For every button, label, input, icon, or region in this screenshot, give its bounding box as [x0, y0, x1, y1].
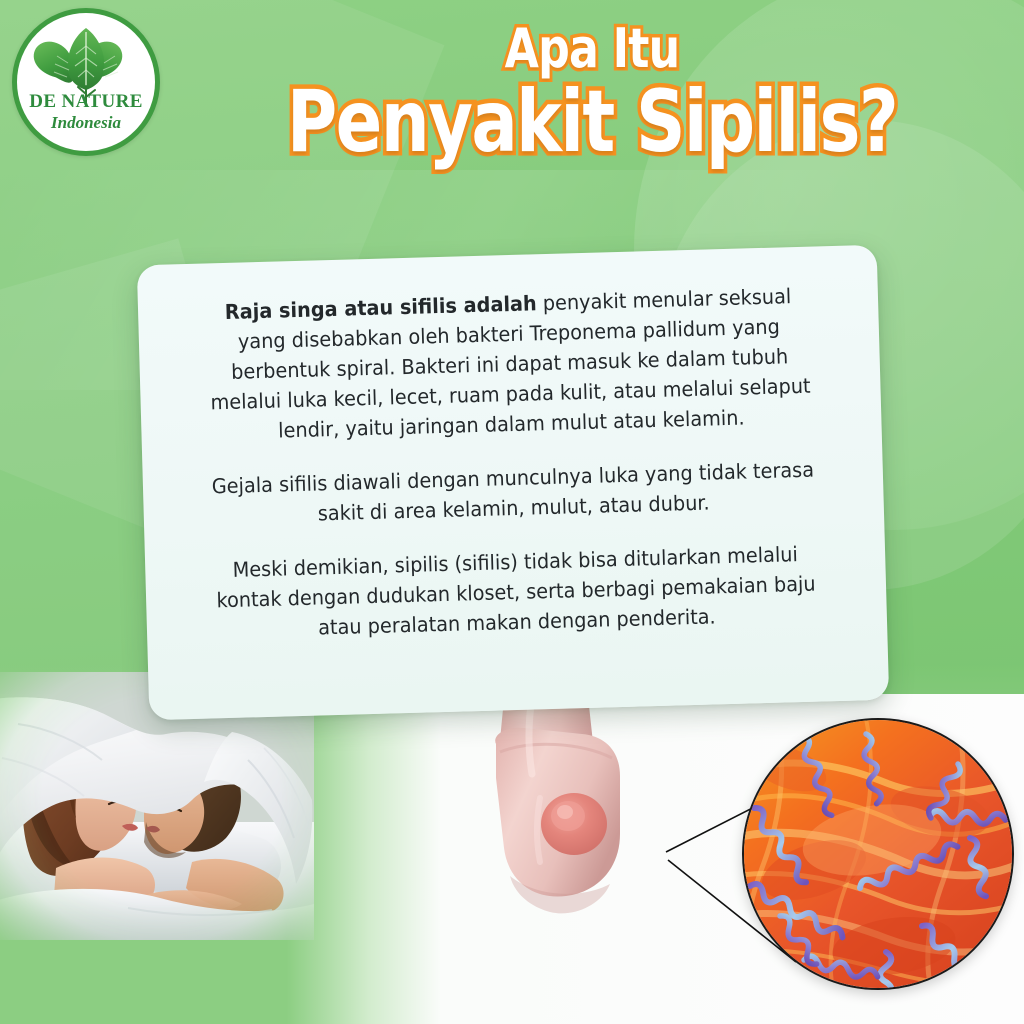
logo-brand-subtitle: Indonesia [12, 114, 160, 131]
content-card-body: Raja singa atau sifilis adalah penyakit … [203, 281, 822, 646]
paragraph-definition: Raja singa atau sifilis adalah penyakit … [203, 281, 816, 448]
three-leaves-icon [12, 8, 160, 156]
infographic-poster: DE NATURE Indonesia Apa Itu Penyakit Sip… [0, 0, 1024, 1024]
paragraph-rest: Meski demikian, sipilis (sifilis) tidak … [216, 542, 816, 639]
paragraph-symptoms: Gejala sifilis diawali dengan munculnya … [208, 455, 819, 532]
header-titles: Apa Itu Penyakit Sipilis? [180, 18, 1004, 168]
header-eyebrow: Apa Itu [254, 18, 930, 80]
treponema-pallidum-micrograph [742, 718, 1014, 990]
content-card: Raja singa atau sifilis adalah penyakit … [137, 245, 889, 720]
logo-brand-name: DE NATURE [12, 92, 160, 111]
paragraph-rest: Gejala sifilis diawali dengan munculnya … [211, 458, 814, 526]
brand-logo: DE NATURE Indonesia [12, 8, 160, 156]
page-title: Penyakit Sipilis? [262, 76, 921, 168]
paragraph-lead: Raja singa atau sifilis adalah [224, 291, 537, 324]
paragraph-transmission: Meski demikian, sipilis (sifilis) tidak … [210, 538, 821, 645]
